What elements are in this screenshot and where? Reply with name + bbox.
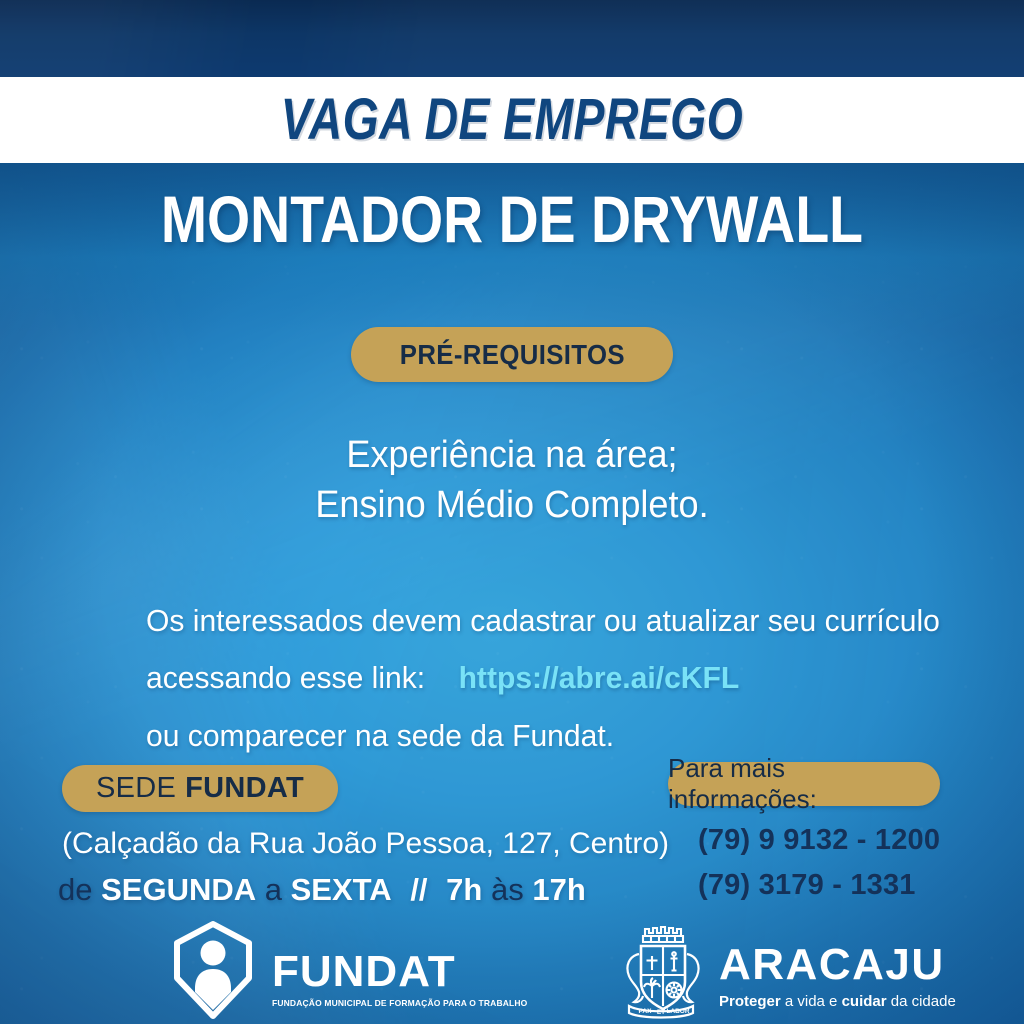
- aracaju-coat-of-arms-icon: PAX ET LABOR: [615, 920, 707, 1024]
- aracaju-tagline-mid: a vida e: [781, 993, 842, 1010]
- crest-motto-labor: LABOR: [666, 1008, 689, 1015]
- page-title: MONTADOR DE DRYWALL: [0, 186, 1024, 252]
- job-title-text: MONTADOR DE DRYWALL: [161, 186, 863, 252]
- aracaju-tagline: Proteger a vida e cuidar da cidade: [719, 993, 956, 1010]
- hours-day-end: SEXTA: [291, 872, 392, 907]
- top-navy-band: [0, 0, 1024, 77]
- aracaju-tagline-bold-2: cuidar: [842, 993, 887, 1010]
- prerequisite-item: Experiência na área;: [26, 430, 999, 480]
- aracaju-tagline-end: da cidade: [887, 993, 956, 1010]
- sede-badge-label-light: SEDE: [96, 772, 176, 805]
- fundat-tagline: FUNDAÇÃO MUNICIPAL DE FORMAÇÃO PARA O TR…: [272, 998, 527, 1008]
- application-link[interactable]: https://abre.ai/cKFL: [459, 660, 740, 695]
- aracaju-tagline-bold-1: Proteger: [719, 993, 781, 1010]
- crest-motto-pax: PAX: [639, 1008, 653, 1015]
- contact-phone-list: (79) 9 9132 - 1200 (79) 3179 - 1331: [698, 818, 940, 908]
- application-instructions: Os interessados devem cadastrar ou atual…: [146, 592, 946, 764]
- aracaju-name: ARACAJU: [719, 943, 956, 987]
- hours-time-start: 7h: [446, 872, 482, 907]
- opening-hours: de SEGUNDA a SEXTA // 7h às 17h: [58, 872, 618, 908]
- prerequisites-badge: PRÉ-REQUISITOS: [351, 327, 673, 382]
- instructions-line-2: acessando esse link: https://abre.ai/cKF…: [146, 649, 922, 706]
- instructions-line-1: Os interessados devem cadastrar ou atual…: [146, 592, 922, 649]
- hours-time-end: 17h: [532, 872, 585, 907]
- sede-address: (Calçadão da Rua João Pessoa, 127, Centr…: [62, 827, 622, 861]
- aracaju-logo: PAX ET LABOR ARACAJU Proteger a vida e c…: [615, 920, 956, 1024]
- more-info-badge-label: Para mais informações:: [668, 753, 940, 815]
- job-vacancy-poster: VAGA DE EMPREGO MONTADOR DE DRYWALL PRÉ-…: [0, 0, 1024, 1024]
- sede-fundat-badge: SEDE FUNDAT: [62, 765, 338, 812]
- contact-phone-2[interactable]: (79) 3179 - 1331: [698, 863, 940, 908]
- fundat-logo: FUNDAT FUNDAÇÃO MUNICIPAL DE FORMAÇÃO PA…: [170, 920, 527, 1024]
- hours-prefix-de: de: [58, 872, 92, 907]
- prerequisite-item: Ensino Médio Completo.: [26, 480, 999, 530]
- prerequisites-list: Experiência na área; Ensino Médio Comple…: [0, 430, 1024, 530]
- banner-title: VAGA DE EMPREGO: [281, 91, 743, 149]
- aracaju-wordmark: ARACAJU Proteger a vida e cuidar da cida…: [719, 943, 956, 1010]
- hours-conj-as: às: [491, 872, 524, 907]
- prerequisites-badge-label: PRÉ-REQUISITOS: [399, 339, 624, 371]
- contact-phone-1[interactable]: (79) 9 9132 - 1200: [698, 818, 940, 863]
- fundat-wordmark: FUNDAT FUNDAÇÃO MUNICIPAL DE FORMAÇÃO PA…: [272, 950, 527, 1008]
- fundat-person-hexagon-icon: [170, 920, 256, 1024]
- vacancy-banner: VAGA DE EMPREGO: [0, 77, 1024, 163]
- hours-conj-a: a: [265, 872, 282, 907]
- sede-badge-label-bold: FUNDAT: [185, 772, 304, 805]
- hours-separator: //: [410, 872, 427, 907]
- fundat-name: FUNDAT: [272, 950, 527, 994]
- instructions-line-2-prefix: acessando esse link:: [146, 660, 425, 695]
- hours-day-start: SEGUNDA: [101, 872, 256, 907]
- crest-motto-et: ET: [657, 1009, 665, 1016]
- more-info-badge: Para mais informações:: [668, 762, 940, 806]
